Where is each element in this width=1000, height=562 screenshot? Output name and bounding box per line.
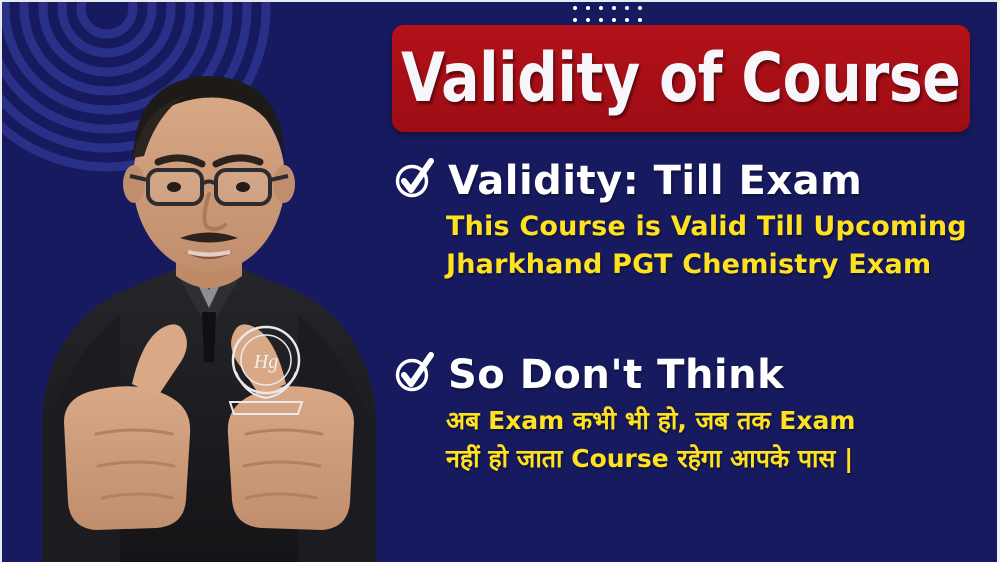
section-heading: Validity: Till Exam <box>448 160 862 202</box>
section-validity: Validity: Till Exam This Course is Valid… <box>394 160 980 285</box>
svg-text:Hg: Hg <box>253 351 278 373</box>
section-dont-think: So Don't Think अब Exam कभी भी हो, जब तक … <box>394 354 980 477</box>
section-heading-row: Validity: Till Exam <box>394 160 980 202</box>
section-line: अब Exam कभी भी हो, जब तक Exam <box>446 402 980 440</box>
page-title: Validity of Course <box>401 45 960 113</box>
gaur-classes-badge-icon: Hg <box>230 327 302 414</box>
section-line: Jharkhand PGT Chemistry Exam <box>446 246 980 284</box>
check-circle-icon <box>394 351 434 395</box>
section-line: This Course is Valid Till Upcoming <box>446 208 980 246</box>
check-circle-icon <box>394 157 434 201</box>
instructor-photo: Hg <box>24 62 394 562</box>
title-banner: Validity of Course <box>392 25 970 132</box>
section-line: नहीं हो जाता Course रहेगा आपके पास | <box>446 440 980 478</box>
concentric-rings-icon <box>2 2 322 232</box>
section-heading-row: So Don't Think <box>394 354 980 396</box>
section-lines: अब Exam कभी भी हो, जब तक Exam नहीं हो जा… <box>394 402 980 477</box>
section-lines: This Course is Valid Till Upcoming Jhark… <box>394 208 980 285</box>
slide-canvas: Hg Validity of Course Validity: Till Exa… <box>0 0 1000 562</box>
dot-grid-icon <box>573 6 642 22</box>
section-heading: So Don't Think <box>448 354 784 396</box>
